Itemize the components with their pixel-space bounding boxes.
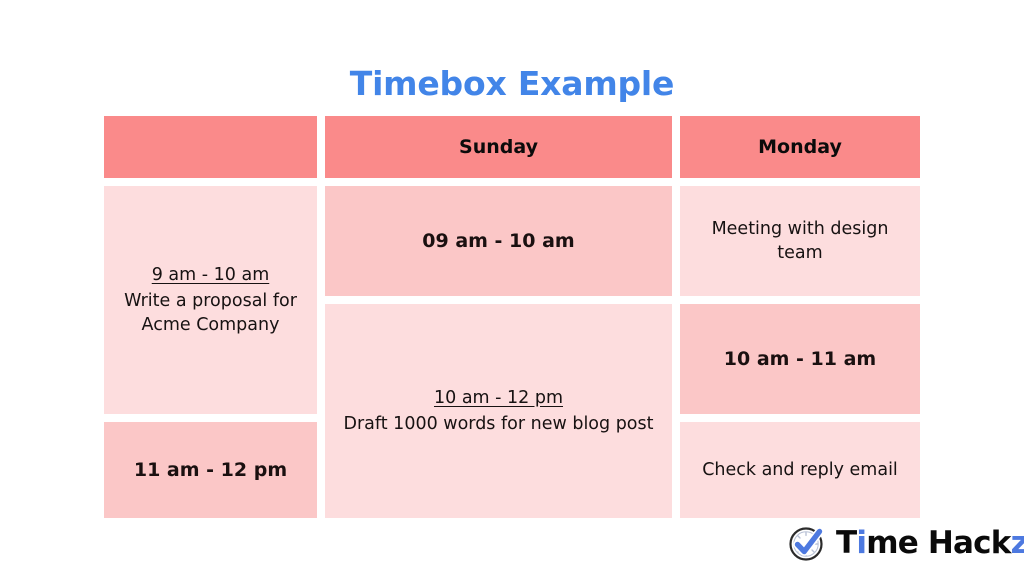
sunday-block-1-slot: 9 am - 10 am (152, 263, 270, 287)
sunday-block-2[interactable]: Check and reply email (680, 422, 920, 518)
brand-logo-text: Time Hackz (836, 528, 1024, 559)
sunday-block-1-description: Write a proposal for Acme Company (114, 289, 307, 337)
slide-canvas: Timebox Example Sunday Monday 09 am - 10… (0, 0, 1024, 576)
time-slot-1: 09 am - 10 am (325, 186, 672, 296)
logo-text-middle: me Hack (866, 525, 1010, 561)
logo-letter-i: i (856, 525, 866, 561)
logo-letter-t: T (836, 525, 856, 561)
brand-logo[interactable]: Time Hackz (787, 520, 1012, 566)
monday-block-2[interactable]: 10 am - 12 pm Draft 1000 words for new b… (325, 304, 672, 518)
sunday-block-2-description: Check and reply email (702, 458, 898, 482)
time-slot-2: 10 am - 11 am (680, 304, 920, 414)
table-header-corner (104, 116, 317, 178)
logo-letter-z: z (1011, 525, 1024, 561)
monday-block-1-description: Meeting with design team (690, 217, 910, 265)
table-header-monday: Monday (680, 116, 920, 178)
sunday-block-1[interactable]: 9 am - 10 am Write a proposal for Acme C… (104, 186, 317, 414)
table-header-sunday: Sunday (325, 116, 672, 178)
monday-block-2-slot: 10 am - 12 pm (434, 386, 563, 410)
time-slot-3: 11 am - 12 pm (104, 422, 317, 518)
clock-check-icon (787, 522, 829, 564)
monday-block-2-description: Draft 1000 words for new blog post (344, 412, 654, 436)
page-title: Timebox Example (0, 64, 1024, 103)
monday-block-1[interactable]: Meeting with design team (680, 186, 920, 296)
timebox-table: Sunday Monday 09 am - 10 am 9 am - 10 am… (104, 116, 920, 504)
